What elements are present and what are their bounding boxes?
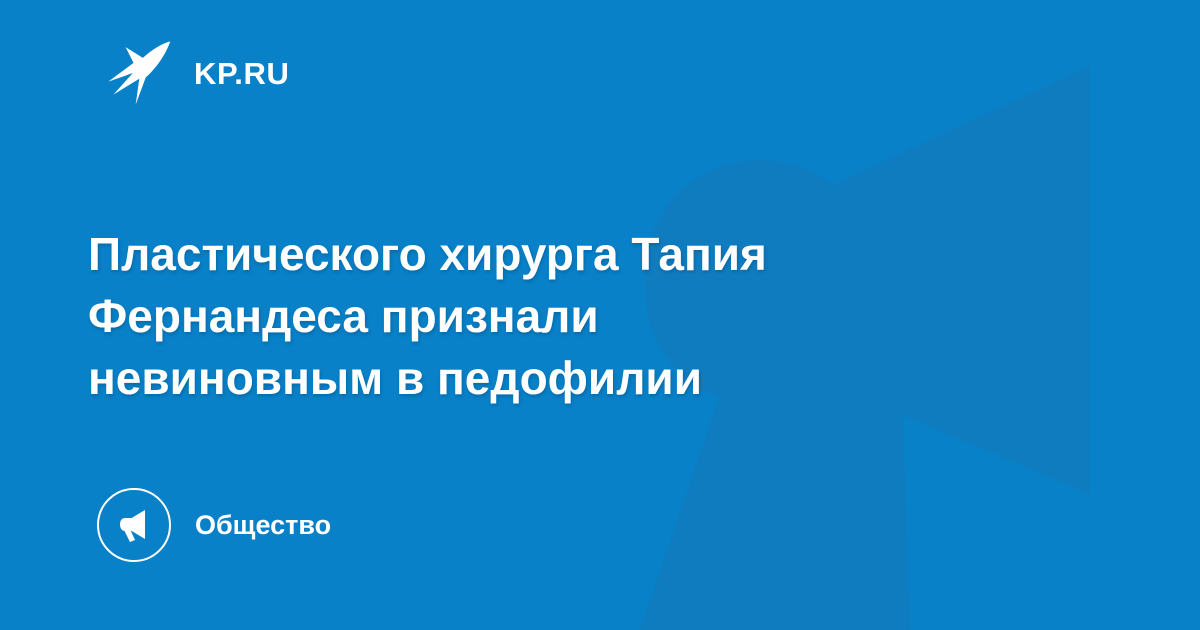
brand-logo[interactable]: KP.RU bbox=[104, 36, 289, 110]
page-title: Пластического хирурга Тапия Фернандеса п… bbox=[88, 223, 988, 409]
share-card: KP.RU Пластического хирурга Тапия Фернан… bbox=[0, 0, 1200, 630]
category-icon-circle bbox=[97, 488, 171, 562]
headline-line-2: Фернандеса признали bbox=[88, 285, 988, 347]
swallow-bird-icon bbox=[104, 37, 176, 109]
headline-line-1: Пластического хирурга Тапия bbox=[88, 223, 988, 285]
category-badge[interactable]: Общество bbox=[97, 486, 331, 564]
category-label: Общество bbox=[195, 512, 331, 539]
brand-name: KP.RU bbox=[194, 58, 289, 89]
megaphone-icon bbox=[114, 505, 154, 545]
headline-line-3: невиновным в педофилии bbox=[88, 347, 988, 409]
